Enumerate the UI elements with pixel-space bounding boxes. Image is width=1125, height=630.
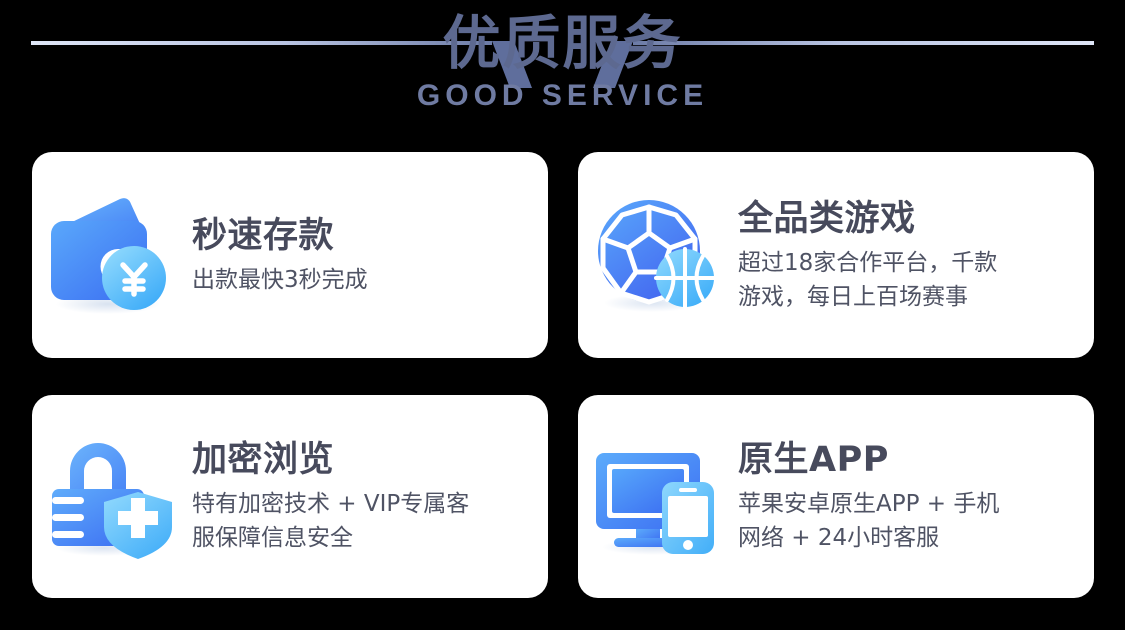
title-block: 优质服务 GOOD SERVICE [283, 6, 843, 114]
card-title: 原生APP [738, 438, 1080, 482]
card-icon-wrap [32, 193, 192, 317]
feature-card-deposit[interactable]: 秒速存款 出款最快3秒完成 [32, 152, 548, 358]
card-title: 秒速存款 [192, 214, 534, 258]
card-text-wrap: 加密浏览 特有加密技术 + VIP专属客服保障信息安全 [192, 438, 548, 555]
card-text-wrap: 全品类游戏 超过18家合作平台，千款游戏，每日上百场赛事 [738, 197, 1094, 314]
page-header: 优质服务 GOOD SERVICE [0, 0, 1125, 142]
card-icon-wrap [578, 435, 738, 559]
card-subtitle: 出款最快3秒完成 [192, 263, 534, 297]
card-subtitle: 苹果安卓原生APP + 手机网络 + 24小时客服 [738, 487, 1080, 555]
feature-card-games[interactable]: 全品类游戏 超过18家合作平台，千款游戏，每日上百场赛事 [578, 152, 1094, 358]
lock-shield-icon [46, 435, 178, 559]
page-title-cn: 优质服务 [283, 6, 843, 80]
monitor-phone-icon [592, 435, 724, 559]
card-icon-wrap [32, 435, 192, 559]
soccer-basketball-icon [592, 193, 724, 317]
card-text-wrap: 原生APP 苹果安卓原生APP + 手机网络 + 24小时客服 [738, 438, 1094, 555]
wallet-yen-icon [46, 193, 178, 317]
feature-card-encryption[interactable]: 加密浏览 特有加密技术 + VIP专属客服保障信息安全 [32, 395, 548, 598]
card-title: 加密浏览 [192, 438, 534, 482]
card-subtitle: 超过18家合作平台，千款游戏，每日上百场赛事 [738, 246, 1080, 314]
feature-card-native-app[interactable]: 原生APP 苹果安卓原生APP + 手机网络 + 24小时客服 [578, 395, 1094, 598]
feature-card-grid: 秒速存款 出款最快3秒完成 [32, 152, 1094, 598]
card-icon-wrap [578, 193, 738, 317]
page-title-en: GOOD SERVICE [283, 78, 843, 114]
card-title: 全品类游戏 [738, 197, 1080, 241]
card-text-wrap: 秒速存款 出款最快3秒完成 [192, 214, 548, 297]
card-subtitle: 特有加密技术 + VIP专属客服保障信息安全 [192, 487, 534, 555]
